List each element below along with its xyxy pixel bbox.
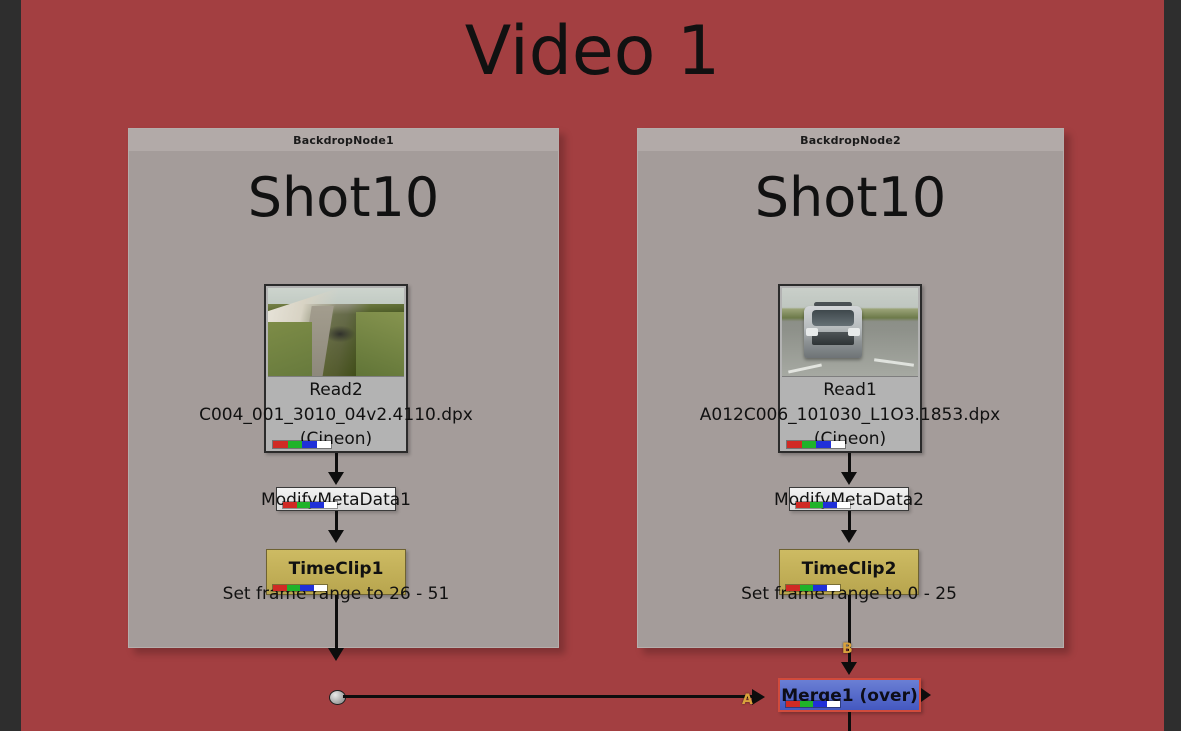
- arrow-dot1-to-merge1-a: [752, 689, 765, 705]
- backdrop-2-titlebar[interactable]: BackdropNode2: [638, 129, 1063, 152]
- merge1-input-a-label: A: [742, 692, 753, 708]
- timeclip1-name: TimeClip1: [289, 559, 384, 579]
- window-left-edge: [0, 0, 21, 731]
- merge1-input-b-label: B: [842, 641, 853, 657]
- merge1-output-nub[interactable]: [921, 688, 931, 702]
- arrow-read1-to-modifymetadata2: [841, 472, 857, 485]
- arrow-timeclip1-to-dot1: [328, 648, 344, 661]
- wire-timeclip2-to-merge1-b: [848, 595, 851, 671]
- modifymetadata1-channel-strip: [282, 501, 338, 509]
- merge1-channel-strip: [785, 700, 841, 708]
- node-timeclip1[interactable]: TimeClip1 Set frame range to 26 - 51: [266, 549, 406, 595]
- read2-thumbnail: [268, 288, 404, 377]
- timeclip2-name: TimeClip2: [802, 559, 897, 579]
- backdrop-1-label: Shot10: [129, 171, 558, 225]
- node-timeclip2[interactable]: TimeClip2 Set frame range to 0 - 25: [779, 549, 919, 595]
- arrow-modifymetadata2-to-timeclip2: [841, 530, 857, 543]
- node-read2[interactable]: Read2 C004_001_3010_04v2.4110.dpx (Cineo…: [264, 284, 408, 453]
- backdrop-1-titlebar[interactable]: BackdropNode1: [129, 129, 558, 152]
- read1-channel-strip: [786, 440, 846, 449]
- backdrop-1-node-name: BackdropNode1: [293, 134, 394, 147]
- wire-dot1-to-merge1-a: [343, 695, 761, 698]
- arrow-modifymetadata1-to-timeclip1: [328, 530, 344, 543]
- read2-channel-strip: [272, 440, 332, 449]
- page-title: Video 1: [21, 18, 1164, 86]
- arrow-timeclip2-to-merge1-b: [841, 662, 857, 675]
- node-merge1[interactable]: Merge1 (over): [778, 678, 921, 712]
- backdrop-2-node-name: BackdropNode2: [800, 134, 901, 147]
- backdrop-2-label: Shot10: [638, 171, 1063, 225]
- timeclip1-channel-strip: [272, 584, 328, 592]
- node-read1[interactable]: Read1 A012C006_101030_L1O3.1853.dpx (Cin…: [778, 284, 922, 453]
- dag-canvas[interactable]: Video 1 BackdropNode1 Shot10 BackdropNod…: [21, 0, 1164, 731]
- wire-merge1-output: [848, 712, 851, 731]
- read1-thumbnail: [782, 288, 918, 377]
- window-right-edge: [1164, 0, 1181, 731]
- arrow-read2-to-modifymetadata1: [328, 472, 344, 485]
- node-modifymetadata1[interactable]: ModifyMetaData1: [276, 487, 396, 511]
- timeclip2-channel-strip: [785, 584, 841, 592]
- node-modifymetadata2[interactable]: ModifyMetaData2: [789, 487, 909, 511]
- modifymetadata2-channel-strip: [795, 501, 851, 509]
- nuke-node-graph-window: Video 1 BackdropNode1 Shot10 BackdropNod…: [0, 0, 1181, 731]
